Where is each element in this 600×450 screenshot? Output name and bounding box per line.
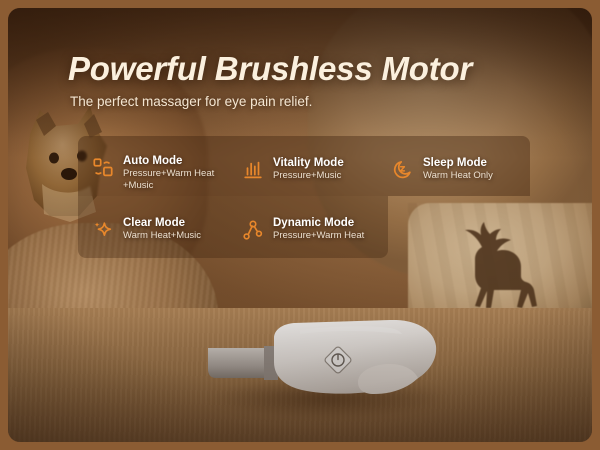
mode-item-sleep[interactable]: Sleep Mode Warm Heat Only [392, 156, 493, 182]
mode-desc-line1: Warm Heat Only [423, 170, 493, 182]
dynamic-mode-icon [242, 219, 264, 241]
page-subtitle: The perfect massager for eye pain relief… [70, 94, 312, 109]
mode-text-clear: Clear Mode Warm Heat+Music [123, 216, 201, 242]
mode-desc-line1: Pressure+Warm Heat [123, 168, 214, 180]
mode-text-auto: Auto Mode Pressure+Warm Heat +Music [123, 154, 214, 191]
clear-mode-icon [92, 219, 114, 241]
auto-mode-icon [92, 157, 114, 179]
mode-name: Vitality Mode [273, 156, 344, 170]
promo-image: Powerful Brushless Motor The perfect mas… [0, 0, 600, 450]
mode-text-dynamic: Dynamic Mode Pressure+Warm Heat [273, 216, 364, 242]
mode-name: Sleep Mode [423, 156, 493, 170]
vitality-mode-icon [242, 159, 264, 181]
page-title: Powerful Brushless Motor [68, 50, 472, 88]
mode-name: Auto Mode [123, 154, 214, 168]
mode-text-vitality: Vitality Mode Pressure+Music [273, 156, 344, 182]
mode-desc-line1: Pressure+Warm Heat [273, 230, 364, 242]
mode-item-auto[interactable]: Auto Mode Pressure+Warm Heat +Music [92, 154, 214, 191]
mode-text-sleep: Sleep Mode Warm Heat Only [423, 156, 493, 182]
mode-item-clear[interactable]: Clear Mode Warm Heat+Music [92, 216, 201, 242]
mode-name: Clear Mode [123, 216, 201, 230]
mode-name: Dynamic Mode [273, 216, 364, 230]
mode-item-dynamic[interactable]: Dynamic Mode Pressure+Warm Heat [242, 216, 364, 242]
mode-desc-line2: +Music [123, 180, 214, 192]
mode-item-vitality[interactable]: Vitality Mode Pressure+Music [242, 156, 344, 182]
sleep-mode-icon [392, 159, 414, 181]
mode-desc-line1: Pressure+Music [273, 170, 344, 182]
mode-desc-line1: Warm Heat+Music [123, 230, 201, 242]
photo-canvas: Powerful Brushless Motor The perfect mas… [8, 8, 592, 442]
